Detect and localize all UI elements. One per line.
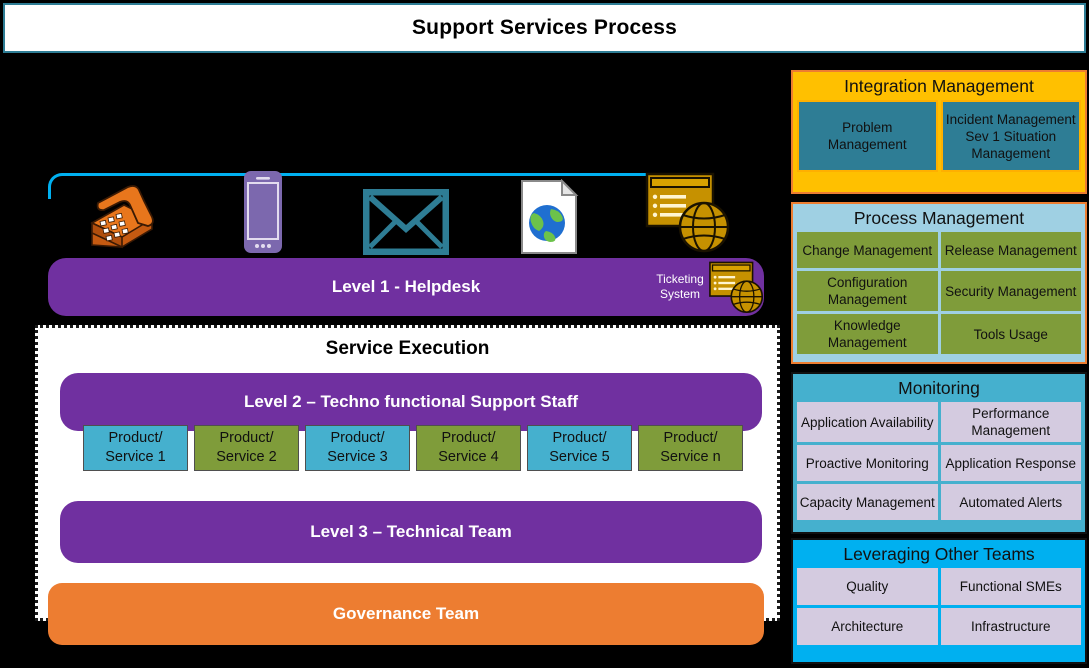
product-service-label: Product/ Service 1 xyxy=(84,429,187,467)
panel-cell[interactable]: Change Management xyxy=(797,232,938,268)
panel-leveraging-other-teams: Leveraging Other Teams Quality Functiona… xyxy=(791,538,1087,664)
level1-label: Level 1 - Helpdesk xyxy=(332,277,480,297)
panel-cell[interactable]: Tools Usage xyxy=(941,314,1082,354)
product-service-label: Product/ Service 3 xyxy=(306,429,409,467)
panel-title: Leveraging Other Teams xyxy=(793,540,1085,568)
panel-integration-management: Integration Management Problem Managemen… xyxy=(791,70,1087,194)
panel-monitoring: Monitoring Application Availability Perf… xyxy=(791,372,1087,534)
page-title-bar: Support Services Process xyxy=(3,3,1086,53)
product-service-chip[interactable]: Product/ Service 1 xyxy=(83,425,188,471)
email-envelope-icon xyxy=(363,189,449,255)
ticketing-system-label: Ticketing System xyxy=(652,272,708,302)
channel-web[interactable] xyxy=(478,150,621,255)
level3-technical-team-bar[interactable]: Level 3 – Technical Team xyxy=(60,501,762,563)
product-service-label: Product/ Service n xyxy=(639,429,742,467)
panel-cell[interactable]: Knowledge Management xyxy=(797,314,938,354)
ticketing-system-group[interactable]: Ticketing System xyxy=(652,259,770,315)
panel-title: Process Management xyxy=(793,204,1085,232)
product-service-chip[interactable]: Product/ Service 3 xyxy=(305,425,410,471)
panel-cell[interactable]: Configuration Management xyxy=(797,271,938,311)
product-service-label: Product/ Service 4 xyxy=(417,429,520,467)
panel-cell[interactable]: Release Management xyxy=(941,232,1082,268)
support-flow-column: Level 1 - Helpdesk Ticketing System xyxy=(0,58,786,668)
panel-cells: Problem Management Incident Management S… xyxy=(793,100,1085,177)
product-service-chip[interactable]: Product/ Service 4 xyxy=(416,425,521,471)
ticketing-system-icon xyxy=(644,169,740,255)
product-service-label: Product/ Service 5 xyxy=(528,429,631,467)
panel-cell[interactable]: Incident Management Sev 1 Situation Mana… xyxy=(941,100,1082,172)
level2-support-staff-bar[interactable]: Level 2 – Techno functional Support Staf… xyxy=(60,373,762,431)
panel-title: Integration Management xyxy=(793,72,1085,100)
governance-team-label: Governance Team xyxy=(333,604,479,624)
panel-cell[interactable]: Automated Alerts xyxy=(941,484,1082,520)
governance-team-bar[interactable]: Governance Team xyxy=(48,583,764,645)
panel-cell[interactable]: Problem Management xyxy=(797,100,938,172)
desk-phone-icon xyxy=(78,179,162,255)
diagram-canvas: Support Services Process xyxy=(0,0,1089,668)
level2-label: Level 2 – Techno functional Support Staf… xyxy=(244,392,578,412)
panel-cell[interactable]: Infrastructure xyxy=(941,608,1082,645)
channel-ticketing[interactable] xyxy=(621,150,764,255)
product-service-chip[interactable]: Product/ Service 5 xyxy=(527,425,632,471)
level1-helpdesk-bar[interactable]: Level 1 - Helpdesk Ticketing System xyxy=(48,258,764,316)
level3-label: Level 3 – Technical Team xyxy=(310,522,512,542)
service-execution-panel: Service Execution Level 2 – Techno funct… xyxy=(35,325,780,621)
panel-cells: Quality Functional SMEs Architecture Inf… xyxy=(793,568,1085,650)
product-service-chip[interactable]: Product/ Service 2 xyxy=(194,425,299,471)
panel-cell[interactable]: Performance Management xyxy=(941,402,1082,442)
panel-cell[interactable]: Architecture xyxy=(797,608,938,645)
panel-cell[interactable]: Security Management xyxy=(941,271,1082,311)
panel-cells: Change Management Release Management Con… xyxy=(793,232,1085,359)
panel-cell[interactable]: Functional SMEs xyxy=(941,568,1082,605)
panel-cell[interactable]: Application Availability xyxy=(797,402,938,442)
panel-cell[interactable]: Proactive Monitoring xyxy=(797,445,938,481)
ticketing-system-icon xyxy=(708,259,770,315)
panel-process-management: Process Management Change Management Rel… xyxy=(791,202,1087,364)
page-title: Support Services Process xyxy=(412,16,677,40)
panel-title: Monitoring xyxy=(793,374,1085,402)
contact-channels-row xyxy=(48,150,764,255)
panel-cells: Application Availability Performance Man… xyxy=(793,402,1085,525)
channel-mobile[interactable] xyxy=(191,150,334,255)
web-page-globe-icon xyxy=(518,179,580,255)
panel-cell[interactable]: Capacity Management xyxy=(797,484,938,520)
product-service-row: Product/ Service 1 Product/ Service 2 Pr… xyxy=(83,425,743,471)
product-service-chip[interactable]: Product/ Service n xyxy=(638,425,743,471)
service-execution-title: Service Execution xyxy=(38,328,777,360)
product-service-label: Product/ Service 2 xyxy=(195,429,298,467)
panel-cell[interactable]: Quality xyxy=(797,568,938,605)
channel-phone[interactable] xyxy=(48,150,191,255)
panel-cell[interactable]: Application Response xyxy=(941,445,1082,481)
channel-email[interactable] xyxy=(334,150,477,255)
mobile-phone-icon xyxy=(242,169,284,255)
